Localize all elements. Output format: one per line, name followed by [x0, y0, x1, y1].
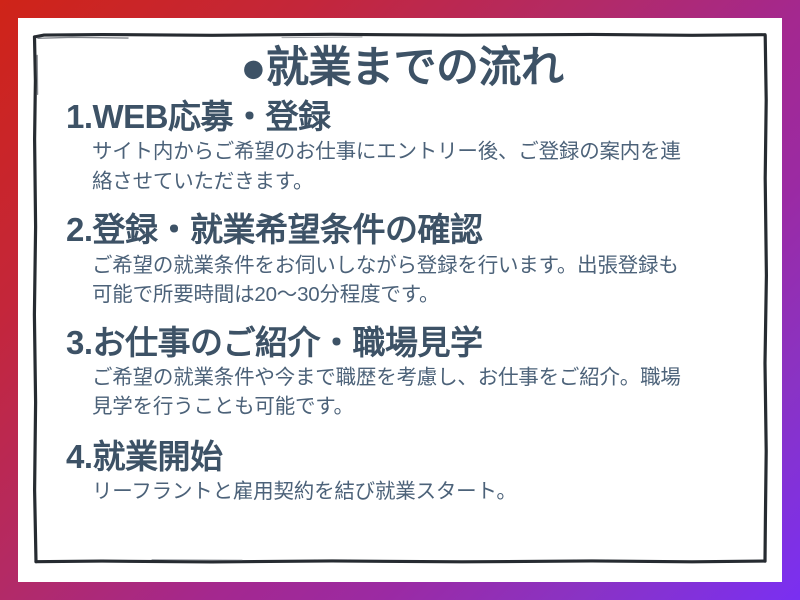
step-body-2-line-2: 可能で所要時間は20〜30分程度です。	[92, 280, 752, 310]
step-heading-3: 3.お仕事のご紹介・職場見学	[48, 323, 756, 363]
slide-content: ●就業までの流れ 1.WEB応募・登録 サイト内からご希望のお仕事にエントリー後…	[48, 44, 756, 558]
slide-canvas: ●就業までの流れ 1.WEB応募・登録 サイト内からご希望のお仕事にエントリー後…	[0, 0, 800, 600]
step-body-1-line-1: サイト内からご希望のお仕事にエントリー後、ご登録の案内を連	[92, 137, 752, 167]
step-body-4: リーフラントと雇用契約を結び就業スタート。	[48, 477, 756, 507]
step-body-3: ご希望の就業条件や今まで職歴を考慮し、お仕事をご紹介。職場 見学を行うことも可能…	[48, 363, 756, 422]
step-body-1-line-2: 絡させていただきます。	[92, 167, 752, 197]
step-item-1: 1.WEB応募・登録 サイト内からご希望のお仕事にエントリー後、ご登録の案内を連…	[48, 97, 756, 196]
white-card: ●就業までの流れ 1.WEB応募・登録 サイト内からご希望のお仕事にエントリー後…	[18, 18, 782, 582]
step-heading-1: 1.WEB応募・登録	[48, 97, 756, 137]
step-item-4: 4.就業開始 リーフラントと雇用契約を結び就業スタート。	[48, 437, 756, 507]
page-title: ●就業までの流れ	[48, 44, 756, 91]
step-item-3: 3.お仕事のご紹介・職場見学 ご希望の就業条件や今まで職歴を考慮し、お仕事をご紹…	[48, 323, 756, 422]
step-item-2: 2.登録・就業希望条件の確認 ご希望の就業条件をお伺いしながら登録を行います。出…	[48, 210, 756, 309]
step-heading-4: 4.就業開始	[48, 437, 756, 477]
step-body-4-line-1: リーフラントと雇用契約を結び就業スタート。	[92, 477, 752, 507]
step-body-1: サイト内からご希望のお仕事にエントリー後、ご登録の案内を連 絡させていただきます…	[48, 137, 756, 196]
step-body-3-line-1: ご希望の就業条件や今まで職歴を考慮し、お仕事をご紹介。職場	[92, 363, 752, 393]
step-heading-2: 2.登録・就業希望条件の確認	[48, 210, 756, 250]
step-body-2-line-1: ご希望の就業条件をお伺いしながら登録を行います。出張登録も	[92, 251, 752, 281]
step-body-3-line-2: 見学を行うことも可能です。	[92, 392, 752, 422]
step-body-2: ご希望の就業条件をお伺いしながら登録を行います。出張登録も 可能で所要時間は20…	[48, 251, 756, 310]
